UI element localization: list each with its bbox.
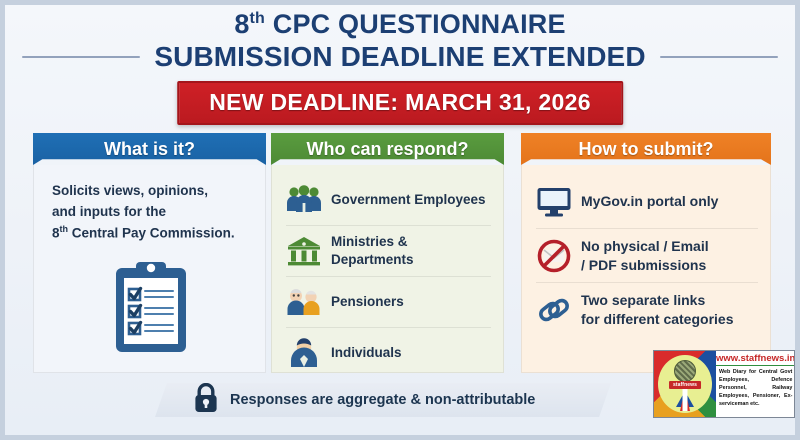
- deadline-banner: NEW DEADLINE: MARCH 31, 2026: [177, 81, 623, 125]
- subtitle-row: SUBMISSION DEADLINE EXTENDED: [5, 40, 795, 74]
- footer-banner: Responses are aggregate & non-attributab…: [155, 383, 611, 417]
- header: 8th CPC QUESTIONNAIRE SUBMISSION DEADLIN…: [5, 5, 795, 127]
- list-item-label: Two separate links for different categor…: [581, 291, 733, 328]
- page-subtitle: SUBMISSION DEADLINE EXTENDED: [154, 41, 645, 73]
- panel-what-is-it: What is it? Solicits views, opinions, an…: [33, 133, 266, 373]
- rule-left-decoration: [22, 56, 140, 58]
- panel-how-to-submit: How to submit? MyGov.in portal only: [521, 133, 771, 373]
- description-line-3: 8th Central Pay Commission.: [52, 223, 251, 244]
- page-title: 8th CPC QUESTIONNAIRE: [5, 9, 795, 40]
- clipboard-checklist-icon: [112, 258, 190, 359]
- panel-1-heading: What is it?: [33, 133, 266, 165]
- group-people-icon: [286, 182, 322, 218]
- panel-3-body: MyGov.in portal only No physical / Email: [521, 165, 771, 373]
- single-person-icon: [286, 335, 322, 371]
- list-item-label: Pensioners: [331, 293, 404, 311]
- title-number: 8: [234, 9, 249, 39]
- no-email-prohibited-icon: [536, 238, 572, 274]
- title-ordinal: th: [250, 10, 266, 27]
- panel-1-body: Solicits views, opinions, and inputs for…: [33, 165, 266, 373]
- watermark-url: www.staffnews.in: [716, 351, 795, 366]
- list-item: No physical / Email / PDF submissions: [536, 228, 758, 282]
- list-item-label: Ministries & Departments: [331, 233, 491, 269]
- monitor-screen-icon: [536, 184, 572, 220]
- institution-bank-icon: [286, 233, 322, 269]
- list-item: MyGov.in portal only: [536, 175, 758, 228]
- panel-who-can-respond: Who can respond? Gov: [271, 133, 504, 373]
- padlock-icon: [193, 383, 219, 418]
- panel-1-description: Solicits views, opinions, and inputs for…: [48, 175, 253, 244]
- list-item-label: Individuals: [331, 344, 402, 362]
- footer-text: Responses are aggregate & non-attributab…: [230, 392, 535, 408]
- description-line-2: and inputs for the: [52, 202, 251, 223]
- list-item: Government Employees: [286, 175, 491, 225]
- clipboard-illustration: [48, 258, 253, 359]
- elderly-couple-icon: [286, 284, 322, 320]
- rule-right-decoration: [660, 56, 778, 58]
- panel-3-heading: How to submit?: [521, 133, 771, 165]
- description-line-1: Solicits views, opinions,: [52, 181, 251, 202]
- list-item-label: MyGov.in portal only: [581, 192, 718, 210]
- watermark-tagline: Web Diary for Central Govt Employees, De…: [716, 366, 795, 417]
- list-item-label: Government Employees: [331, 191, 486, 209]
- deadline-text: NEW DEADLINE: MARCH 31, 2026: [209, 89, 591, 115]
- list-item: Pensioners: [286, 276, 491, 327]
- list-item: Individuals: [286, 327, 491, 378]
- list-item: Ministries & Departments: [286, 225, 491, 276]
- watermark-logo-icon: staffnews: [654, 351, 716, 417]
- panel-2-body: Government Employees: [271, 165, 504, 373]
- title-main: CPC QUESTIONNAIRE: [265, 9, 566, 39]
- infographic-canvas: 8th CPC QUESTIONNAIRE SUBMISSION DEADLIN…: [0, 0, 800, 440]
- watermark-text-block: www.staffnews.in Web Diary for Central G…: [716, 351, 795, 417]
- chain-link-icon: [536, 292, 572, 328]
- list-item: Two separate links for different categor…: [536, 282, 758, 336]
- panels-container: What is it? Solicits views, opinions, an…: [5, 133, 795, 373]
- panel-2-heading: Who can respond?: [271, 133, 504, 165]
- watermark-staffnews: staffnews www.staffnews.in Web Diary for…: [653, 350, 795, 418]
- list-item-label: No physical / Email / PDF submissions: [581, 237, 709, 274]
